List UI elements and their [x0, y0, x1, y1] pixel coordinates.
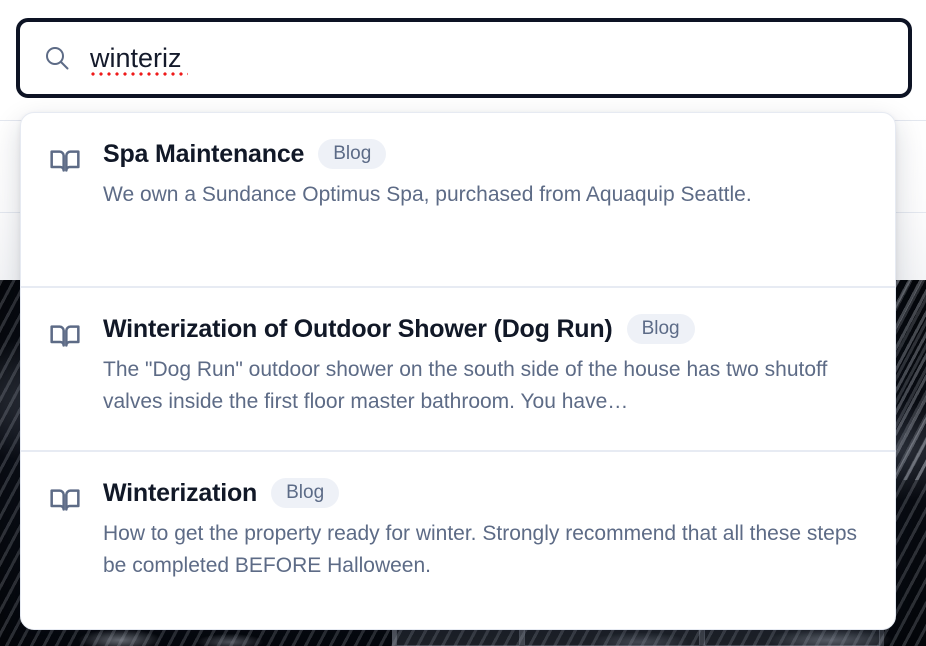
search-result-title: Spa Maintenance [103, 140, 304, 169]
search-result-head: Winterization of Outdoor Shower (Dog Run… [103, 314, 867, 344]
search-result-head: Winterization Blog [103, 478, 867, 508]
search-bar[interactable] [16, 18, 912, 98]
search-result-item[interactable]: Winterization Blog How to get the proper… [21, 450, 895, 629]
search-result-description: How to get the property ready for winter… [103, 518, 867, 582]
search-result-item[interactable]: Spa Maintenance Blog We own a Sundance O… [21, 113, 895, 286]
search-result-badge: Blog [271, 478, 339, 508]
search-icon [44, 45, 70, 71]
search-result-title: Winterization [103, 479, 257, 508]
search-result-head: Spa Maintenance Blog [103, 139, 867, 169]
search-result-body: Spa Maintenance Blog We own a Sundance O… [103, 139, 867, 211]
book-icon [49, 145, 81, 177]
search-result-description: We own a Sundance Optimus Spa, purchased… [103, 179, 867, 211]
book-icon [49, 320, 81, 352]
search-result-title: Winterization of Outdoor Shower (Dog Run… [103, 315, 613, 344]
search-input[interactable] [90, 41, 810, 75]
search-input-wrap [90, 41, 810, 75]
search-result-body: Winterization Blog How to get the proper… [103, 478, 867, 582]
search-result-description: The "Dog Run" outdoor shower on the sout… [103, 354, 867, 418]
book-icon [49, 484, 81, 516]
search-results-dropdown: Spa Maintenance Blog We own a Sundance O… [20, 112, 896, 630]
search-result-item[interactable]: Winterization of Outdoor Shower (Dog Run… [21, 286, 895, 450]
search-result-body: Winterization of Outdoor Shower (Dog Run… [103, 314, 867, 418]
search-result-badge: Blog [318, 139, 386, 169]
search-result-badge: Blog [627, 314, 695, 344]
